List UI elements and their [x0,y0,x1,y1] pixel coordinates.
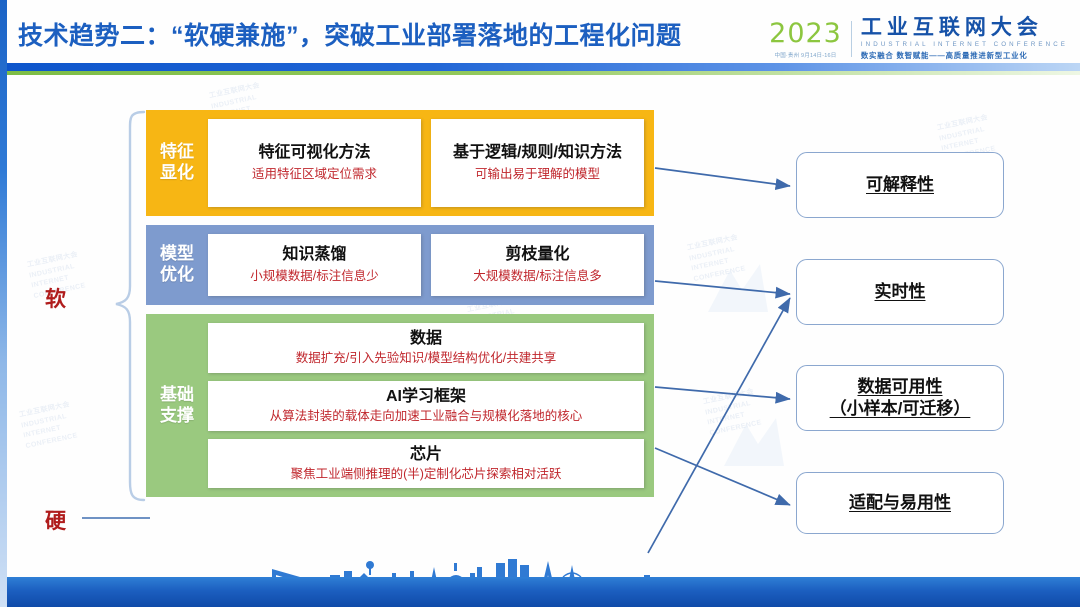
logo-slogan: 数实融合 数智赋能——高质量推进新型工业化 [861,50,1068,61]
layer-stack: 特征 显化 特征可视化方法 适用特征区域定位需求 基于逻辑/规则/知识方法 可输… [146,110,654,506]
layer-model-label: 模型 优化 [146,225,208,305]
logo-name-cn: 工业互联网大会 [861,17,1068,39]
card-feature-visualization[interactable]: 特征可视化方法 适用特征区域定位需求 [208,119,421,207]
outcome-label: 实时性 [875,281,926,303]
card-subtitle: 聚焦工业端侧推理的(半)定制化芯片探索相对活跃 [291,467,562,483]
conference-logo: 2023 中国·贵州 9月14日-16日 工业互联网大会 INDUSTRIAL … [769,12,1068,66]
card-title: 知识蒸馏 [282,245,346,264]
logo-divider [851,21,852,57]
arrow-framework-to-adaptability [655,448,790,505]
label-soft: 软 [45,283,66,313]
left-edge-strip [0,0,7,607]
card-ai-framework[interactable]: AI学习框架 从算法封装的载体走向加速工业融合与规模化落地的核心 [208,381,644,431]
layer-model: 模型 优化 知识蒸馏 小规模数据/标注信息少 剪枝量化 大规模数据/标注信息多 [146,225,654,305]
layer-model-label-line1: 模型 [160,244,194,265]
layer-feature-label-line2: 显化 [160,163,194,184]
title-rule-green [0,71,1080,75]
logo-year-block: 2023 中国·贵州 9月14日-16日 [769,20,851,59]
outcome-sublabel: （小样本/可迁移） [830,399,971,418]
layer-model-cards: 知识蒸馏 小规模数据/标注信息少 剪枝量化 大规模数据/标注信息多 [208,225,654,305]
layer-feature: 特征 显化 特征可视化方法 适用特征区域定位需求 基于逻辑/规则/知识方法 可输… [146,110,654,216]
logo-name-en: INDUSTRIAL INTERNET CONFERENCE [861,41,1068,48]
slide-canvas: 工业互联网大会 INDUSTRIAL INTERNET CONFERENCE 工… [0,0,1080,607]
footer-skyline [0,555,1080,607]
card-pruning-quantization[interactable]: 剪枝量化 大规模数据/标注信息多 [431,234,644,296]
card-subtitle: 从算法封装的载体走向加速工业融合与规模化落地的核心 [270,409,583,425]
outcome-data-availability[interactable]: 数据可用性 （小样本/可迁移） [796,365,1004,431]
watermark-glyph [706,404,796,484]
background-watermark: 工业互联网大会 INDUSTRIAL INTERNET CONFERENCE [686,233,747,285]
card-subtitle: 适用特征区域定位需求 [252,167,377,183]
watermark-glyph [690,250,780,330]
outcome-adaptability[interactable]: 适配与易用性 [796,472,1004,534]
logo-year: 2023 [769,20,842,47]
label-hard: 硬 [45,505,66,535]
card-knowledge-distillation[interactable]: 知识蒸馏 小规模数据/标注信息少 [208,234,421,296]
arrow-feature-to-interpretability [655,168,790,186]
page-title: 技术趋势二：“软硬兼施”，突破工业部署落地的工程化问题 [18,16,682,52]
card-title: 剪枝量化 [505,245,569,264]
card-data[interactable]: 数据 数据扩充/引入先验知识/模型结构优化/共建共享 [208,323,644,373]
background-watermark: 工业互联网大会 INDUSTRIAL INTERNET CONFERENCE [18,400,79,452]
soft-group-brace [86,108,150,508]
arrow-chip-to-realtime [648,298,790,553]
card-title: 基于逻辑/规则/知识方法 [453,143,622,162]
card-subtitle: 可输出易于理解的模型 [475,167,600,183]
arrow-data-to-availability [655,387,790,399]
logo-date: 中国·贵州 9月14日-16日 [775,51,837,59]
layer-feature-label-line1: 特征 [160,142,194,163]
footer-band [0,577,1080,607]
background-watermark: 工业互联网大会 INDUSTRIAL INTERNET CONFERENCE [702,387,763,439]
layer-model-label-line2: 优化 [160,265,194,286]
card-title: 特征可视化方法 [258,143,370,162]
logo-name-block: 工业互联网大会 INDUSTRIAL INTERNET CONFERENCE 数… [861,17,1068,60]
outcome-interpretability[interactable]: 可解释性 [796,152,1004,218]
card-chip[interactable]: 芯片 聚焦工业端侧推理的(半)定制化芯片探索相对活跃 [208,439,644,489]
outcome-label: 可解释性 [866,174,934,196]
outcome-label: 适配与易用性 [849,492,951,514]
layer-feature-label: 特征 显化 [146,110,208,216]
card-title: AI学习框架 [386,387,466,406]
card-subtitle: 大规模数据/标注信息多 [473,269,601,285]
layer-base: 基础 支撑 数据 数据扩充/引入先验知识/模型结构优化/共建共享 AI学习框架 … [146,314,654,497]
layer-base-label-line1: 基础 [160,385,194,406]
hard-connector-line [82,517,150,519]
layer-feature-cards: 特征可视化方法 适用特征区域定位需求 基于逻辑/规则/知识方法 可输出易于理解的… [208,110,654,216]
card-logic-rule-knowledge[interactable]: 基于逻辑/规则/知识方法 可输出易于理解的模型 [431,119,644,207]
layer-base-label-line2: 支撑 [160,406,194,427]
layer-base-label: 基础 支撑 [146,314,208,497]
outcome-label: 数据可用性 [857,377,942,396]
outcome-realtime[interactable]: 实时性 [796,259,1004,325]
card-title: 芯片 [410,445,442,464]
card-subtitle: 小规模数据/标注信息少 [250,269,378,285]
layer-base-cards: 数据 数据扩充/引入先验知识/模型结构优化/共建共享 AI学习框架 从算法封装的… [208,314,654,497]
card-title: 数据 [410,329,442,348]
arrow-model-to-realtime [655,281,790,294]
card-subtitle: 数据扩充/引入先验知识/模型结构优化/共建共享 [296,351,556,367]
